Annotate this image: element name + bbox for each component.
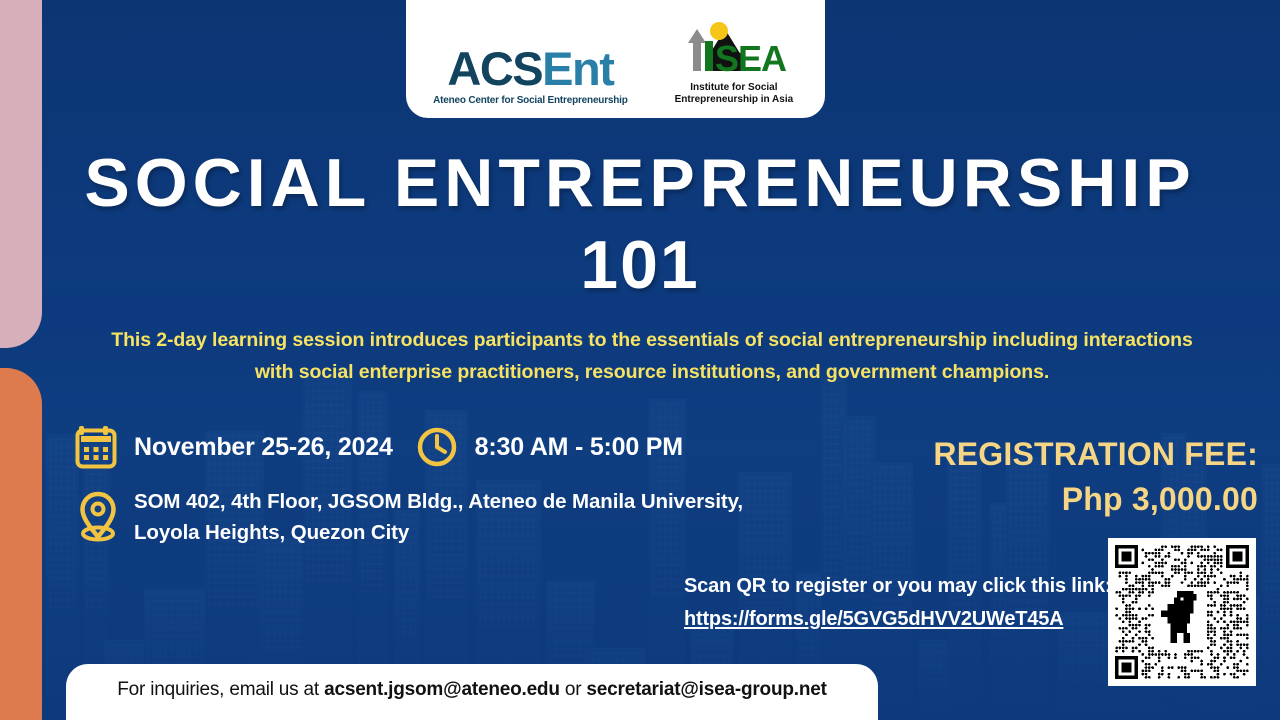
logo-card: ACSEnt Ateneo Center for Social Entrepre… [406,0,825,118]
registration-link[interactable]: https://forms.gle/5GVG5dHVV2UWeT45A [684,608,1063,630]
event-date: November 25-26, 2024 [134,433,393,462]
isea-tagline-line2: Entrepreneurship in Asia [675,94,794,105]
date-time-row: November 25-26, 2024 8:30 AM - 5:00 PM [74,424,743,470]
acsent-tagline: Ateneo Center for Social Entrepreneurshi… [433,94,628,106]
poster-subtitle-line1: This 2-day learning session introduces p… [111,329,1078,351]
acsent-wordmark-ent: Ent [542,42,613,95]
poster-title-line1: SOCIAL ENTREPRENEURSHIP [0,142,1280,224]
event-details: November 25-26, 2024 8:30 AM - 5:00 PM [74,424,743,548]
registration-fee-label: REGISTRATION FEE: [933,432,1258,477]
inquiries-prefix: For inquiries, email us at [117,679,324,700]
event-time: 8:30 AM - 5:00 PM [475,433,683,462]
isea-logo: SEA Institute for Social Entrepreneurshi… [665,21,803,106]
event-venue-line1: SOM 402, 4th Floor, JGSOM Bldg., Ateneo … [134,490,743,513]
venue-row: SOM 402, 4th Floor, JGSOM Bldg., Ateneo … [74,486,743,548]
qr-code[interactable] [1108,538,1256,686]
isea-tagline-line1: Institute for Social [690,82,777,93]
inquiries-email-1[interactable]: acsent.jgsom@ateneo.edu [324,679,560,700]
isea-tagline: Institute for Social Entrepreneurship in… [675,82,794,106]
registration-fee-amount: Php 3,000.00 [933,477,1258,522]
registration-fee: REGISTRATION FEE: Php 3,000.00 [933,432,1258,522]
poster-title-line2: 101 [0,224,1280,306]
acsent-wordmark: ACSEnt [447,46,613,92]
inquiries-email-2[interactable]: secretariat@isea-group.net [586,679,826,700]
isea-letters: SEA [705,38,787,79]
location-pin-icon [74,488,122,544]
qr-code-graphic [1115,545,1249,679]
poster-title: SOCIAL ENTREPRENEURSHIP 101 [0,142,1280,306]
arrow-up-icon [688,29,706,71]
acsent-logo: ACSEnt Ateneo Center for Social Entrepre… [428,46,633,106]
calendar-icon [74,424,118,470]
scan-prompt: Scan QR to register or you may click thi… [684,570,1111,603]
footer-card: For inquiries, email us at acsent.jgsom@… [66,664,878,720]
isea-mark-graphic: SEA [671,21,797,79]
inquiries-separator: or [560,679,587,700]
acsent-wordmark-acs: ACS [447,42,542,95]
event-venue: SOM 402, 4th Floor, JGSOM Bldg., Ateneo … [134,486,743,548]
poster-subtitle: This 2-day learning session introduces p… [92,324,1212,388]
event-poster: ACSEnt Ateneo Center for Social Entrepre… [0,0,1280,720]
event-venue-line2: Loyola Heights, Quezon City [134,521,409,544]
isea-mark: SEA [671,21,797,79]
inquiries-text: For inquiries, email us at acsent.jgsom@… [117,679,827,701]
clock-icon [415,425,459,469]
registration-block: Scan QR to register or you may click thi… [684,570,1111,636]
decorative-bar-orange [0,368,42,720]
svg-text:SEA: SEA [715,38,787,79]
